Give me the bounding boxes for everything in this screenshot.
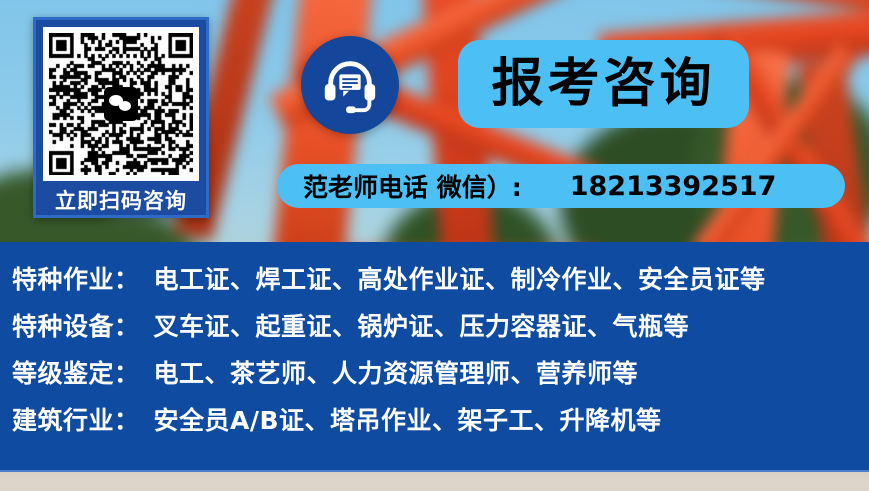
info-row: 建筑行业： 安全员A/B证、塔吊作业、架子工、升降机等: [12, 401, 859, 448]
contact-pill[interactable]: 范老师电话 微信）: 18213392517: [277, 164, 845, 208]
wechat-bubbles: [109, 95, 133, 113]
info-items: 安全员A/B证、塔吊作业、架子工、升降机等: [154, 401, 662, 437]
headset-support-icon: [301, 36, 399, 134]
info-category: 等级鉴定：: [12, 354, 140, 390]
qr-caption: 立即扫码咨询: [43, 181, 199, 221]
info-row: 等级鉴定： 电工、茶艺师、人力资源管理师、营养师等: [12, 354, 859, 401]
wechat-logo-icon: [104, 87, 138, 121]
headset-glyph: [319, 54, 381, 116]
info-row: 特种作业： 电工证、焊工证、高处作业证、制冷作业、安全员证等: [12, 260, 859, 307]
info-items: 电工、茶艺师、人力资源管理师、营养师等: [154, 354, 639, 390]
info-category: 特种作业：: [12, 260, 140, 296]
panel-bottom-divider: [0, 470, 869, 472]
promo-poster: 立即扫码咨询 报考咨询 范老师电话 微信）: 18213392517 特种作业：…: [0, 0, 869, 491]
qr-card[interactable]: 立即扫码咨询: [33, 17, 209, 218]
title-pill: 报考咨询: [458, 40, 749, 128]
page-title: 报考咨询: [491, 58, 715, 110]
info-items: 叉车证、起重证、锅炉证、压力容器证、气瓶等: [154, 307, 690, 343]
qr-code-image[interactable]: [43, 27, 199, 181]
course-list-panel: 特种作业： 电工证、焊工证、高处作业证、制冷作业、安全员证等 特种设备： 叉车证…: [0, 242, 869, 471]
info-category: 特种设备：: [12, 307, 140, 343]
contact-label: 范老师电话 微信）:: [303, 168, 522, 204]
info-row: 特种设备： 叉车证、起重证、锅炉证、压力容器证、气瓶等: [12, 307, 859, 354]
contact-phone-number[interactable]: 18213392517: [570, 171, 777, 202]
info-category: 建筑行业：: [12, 401, 140, 437]
info-items: 电工证、焊工证、高处作业证、制冷作业、安全员证等: [154, 260, 766, 296]
